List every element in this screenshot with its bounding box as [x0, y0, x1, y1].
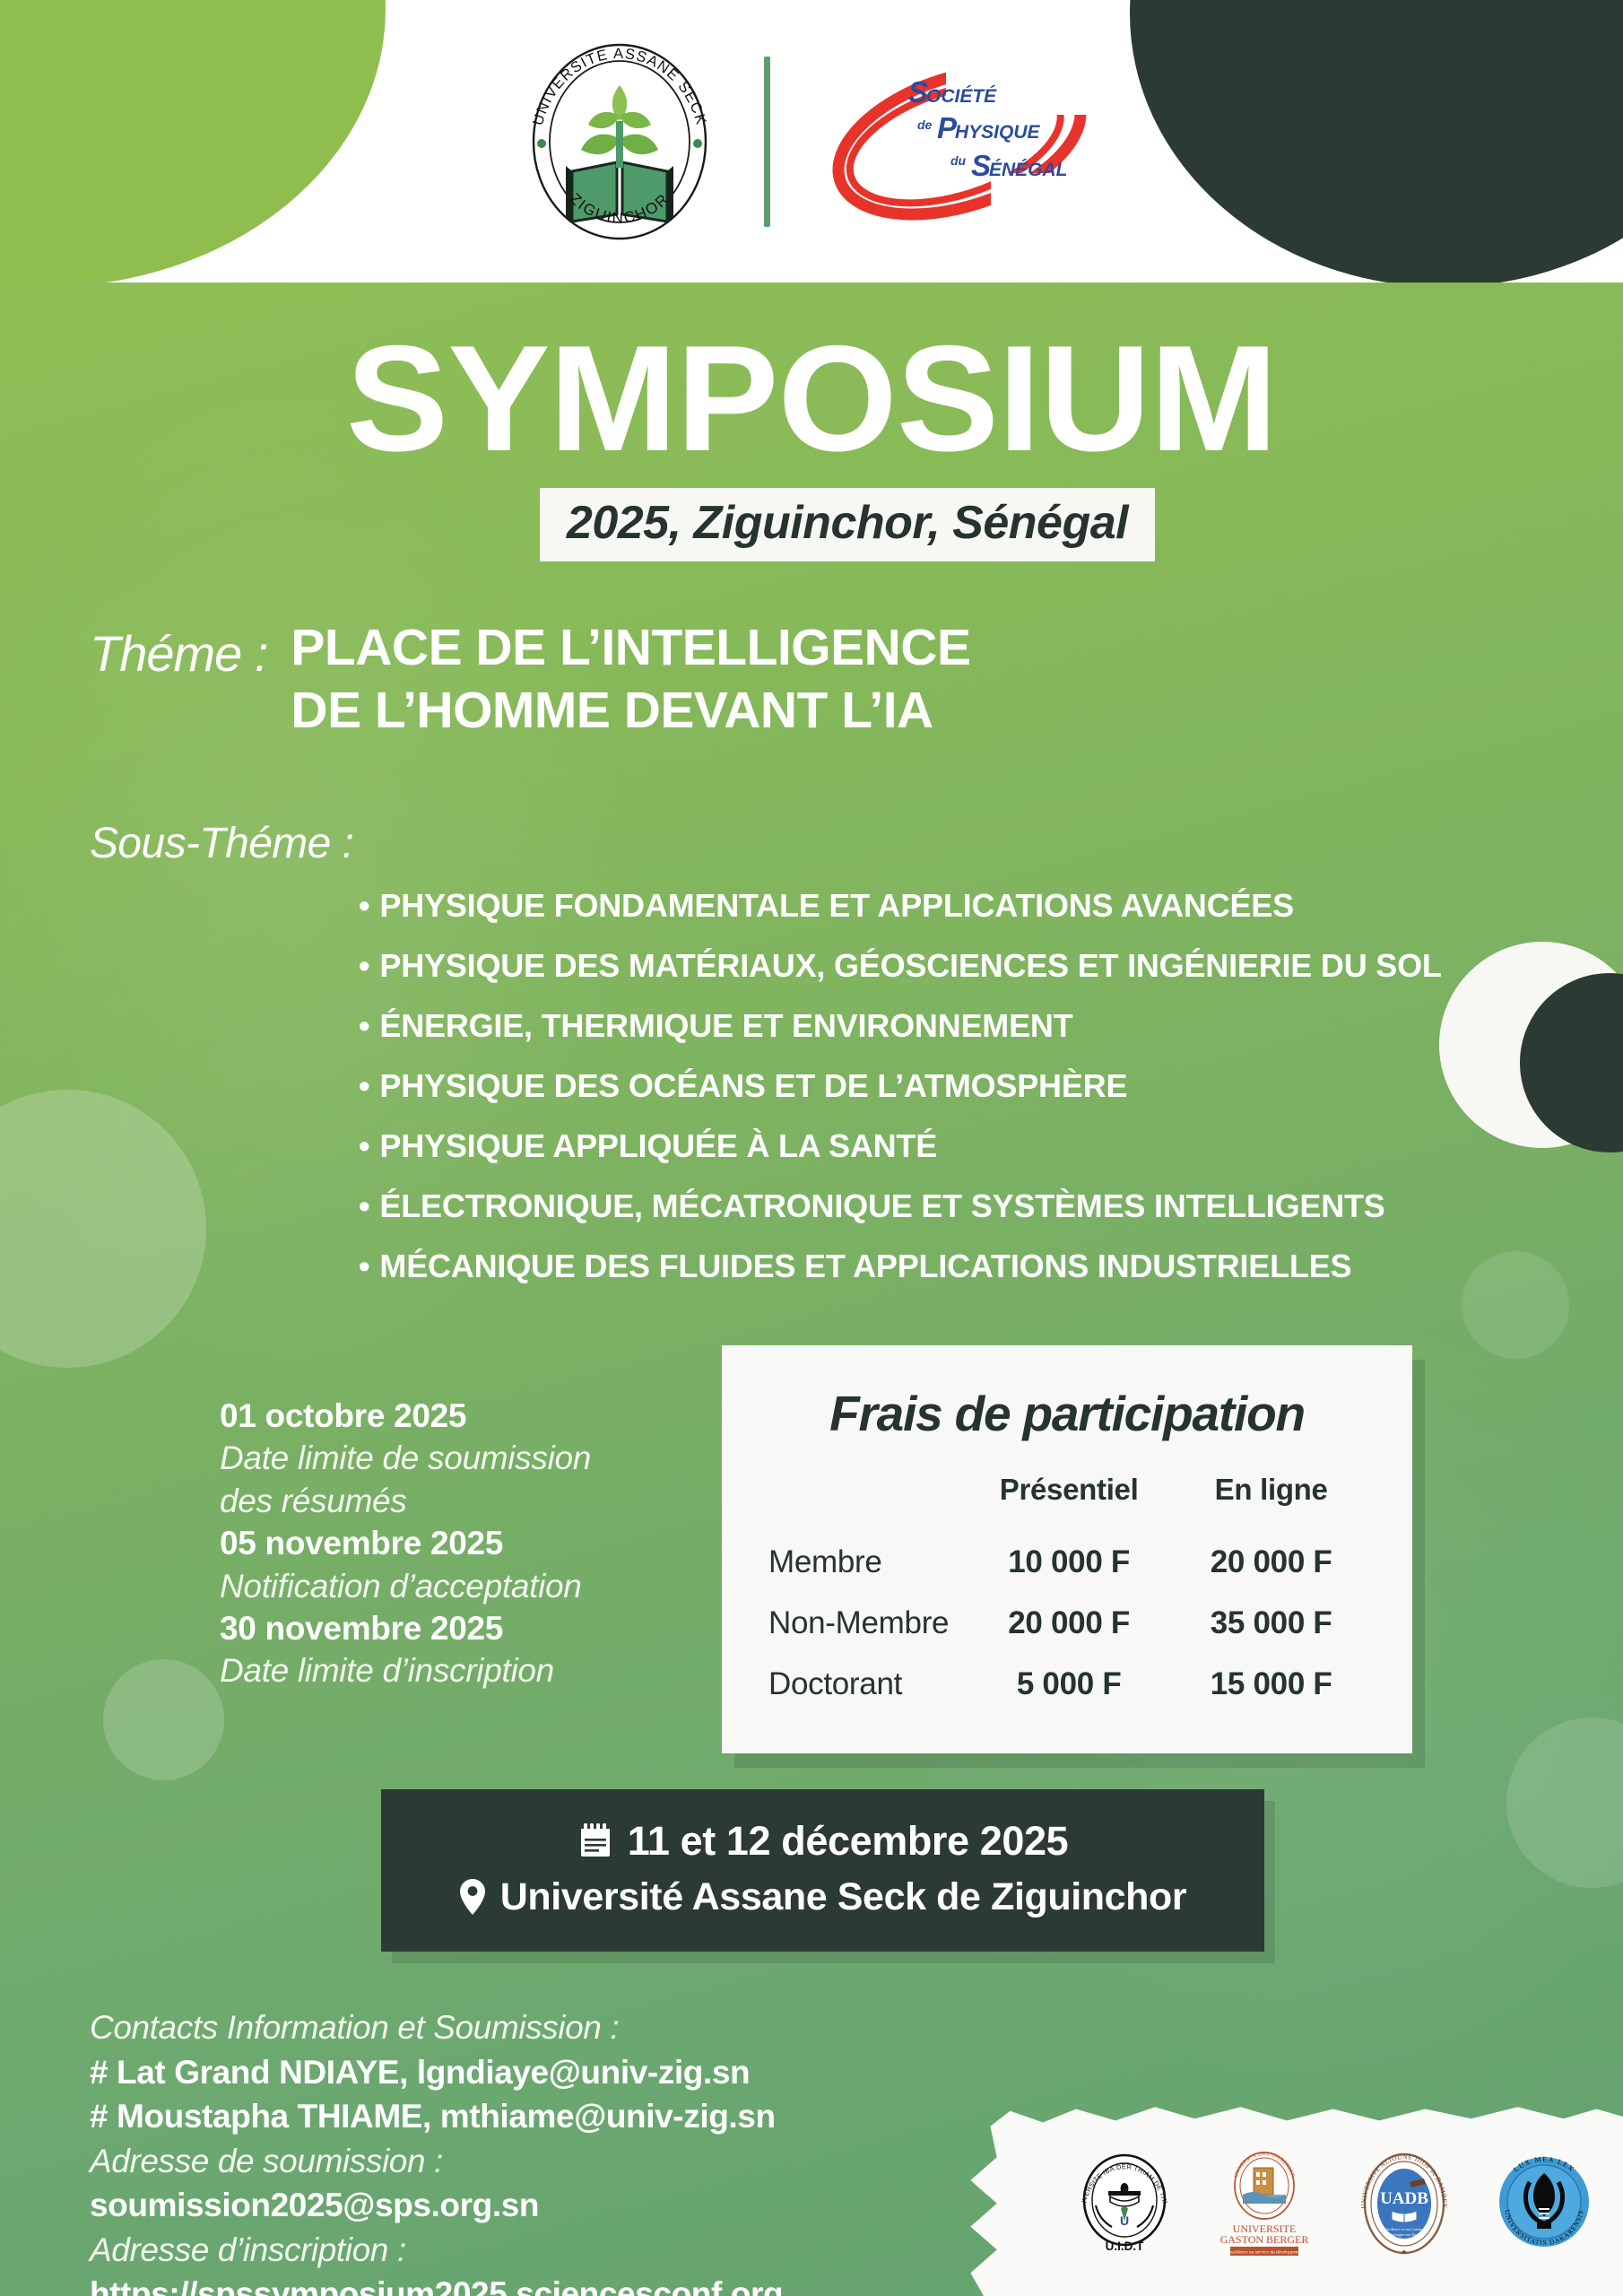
deadline-date: 30 novembre 2025 [220, 1607, 722, 1649]
deadline-date: 01 octobre 2025 [220, 1395, 722, 1437]
fees-cell-presentiel: 5 000 F [961, 1654, 1176, 1715]
banner-date-row: 11 et 12 décembre 2025 [381, 1813, 1264, 1870]
theme-line-1: PLACE DE L’INTELLIGENCE [291, 617, 970, 680]
subtheme-item-label: MÉCANIQUE DES FLUIDES ET APPLICATIONS IN… [379, 1248, 1351, 1284]
partner-logos: U UNIVERSITE IBA DER THIAM DE THIES U.I.… [964, 2103, 1623, 2296]
date-venue-banner: 11 et 12 décembre 2025 Université Assane… [381, 1789, 1264, 1952]
subtheme-item: •PHYSIQUE DES MATÉRIAUX, GÉOSCIENCES ET … [359, 950, 1623, 982]
deadline-desc-2: des résumés [220, 1480, 722, 1522]
bullet-icon: • [359, 947, 369, 984]
deadline-item: 30 novembre 2025 Date limite d’inscripti… [220, 1607, 722, 1692]
subtheme-item-label: ÉLECTRONIQUE, MÉCATRONIQUE ET SYSTÈMES I… [379, 1187, 1384, 1224]
partner-logo-ucad: LUX MEA LEX UNIVERSITATIS DAKARENSIS [1496, 2150, 1593, 2257]
page-title: SYMPOSIUM [0, 323, 1623, 474]
sps-logo: S OCIÉTÉ de P HYSIQUE du S ÉNÉGAL [811, 52, 1107, 231]
deadline-item: 01 octobre 2025 Date limite de soumissio… [220, 1395, 722, 1522]
contacts-heading: Contacts Information et Soumission : [90, 2005, 1623, 2050]
subtheme-item: •PHYSIQUE APPLIQUÉE À LA SANTÉ [359, 1130, 1623, 1162]
svg-text:S: S [908, 75, 928, 109]
deadline-date: 05 novembre 2025 [220, 1522, 722, 1564]
subtheme-item-label: PHYSIQUE DES OCÉANS ET DE L’ATMOSPHÈRE [379, 1067, 1127, 1104]
table-row: Non-Membre 20 000 F 35 000 F [768, 1593, 1366, 1654]
subtheme-item-label: PHYSIQUE APPLIQUÉE À LA SANTÉ [379, 1127, 937, 1164]
partner-logo-uidt: U UNIVERSITE IBA DER THIAM DE THIES U.I.… [1076, 2150, 1173, 2257]
poster-body: SYMPOSIUM 2025, Ziguinchor, Sénégal Thém… [0, 283, 1623, 2296]
fees-header-row: Présentiel En ligne [768, 1473, 1366, 1532]
fees-row-label: Membre [768, 1532, 961, 1593]
subtheme-item: •PHYSIQUE FONDAMENTALE ET APPLICATIONS A… [359, 890, 1623, 922]
fees-cell-enligne: 15 000 F [1176, 1654, 1366, 1715]
poster-header: UNIVERSITE ASSANE SECK ZIGUINCHOR S OCIÉ… [0, 0, 1623, 283]
banner-date-text: 11 et 12 décembre 2025 [628, 1813, 1069, 1870]
svg-text:U.I.D.T: U.I.D.T [1105, 2239, 1144, 2253]
bullet-icon: • [359, 1127, 369, 1164]
contact-person-1[interactable]: # Lat Grand NDIAYE, lgndiaye@univ-zig.sn [90, 2050, 1623, 2095]
svg-text:du: du [950, 153, 967, 168]
table-row: Doctorant 5 000 F 15 000 F [768, 1654, 1366, 1715]
svg-text:OCIÉTÉ: OCIÉTÉ [926, 86, 997, 107]
svg-text:UADB: UADB [1380, 2189, 1428, 2208]
location-pin-icon [459, 1878, 486, 1916]
subtheme-list: •PHYSIQUE FONDAMENTALE ET APPLICATIONS A… [359, 890, 1623, 1283]
fees-row-label: Doctorant [768, 1654, 961, 1715]
uasz-logo: UNIVERSITE ASSANE SECK ZIGUINCHOR [516, 39, 723, 245]
fees-cell-presentiel: 10 000 F [961, 1532, 1176, 1593]
svg-text:GASTON BERGER: GASTON BERGER [1219, 2233, 1308, 2246]
svg-text:HYSIQUE: HYSIQUE [955, 122, 1041, 143]
bullet-icon: • [359, 1248, 369, 1284]
theme-line-2: DE L’HOMME DEVANT L’IA [291, 680, 970, 743]
subtheme-item: •ÉLECTRONIQUE, MÉCATRONIQUE ET SYSTÈMES … [359, 1190, 1623, 1222]
subtheme-item-label: PHYSIQUE DES MATÉRIAUX, GÉOSCIENCES ET I… [379, 947, 1441, 984]
fees-title: Frais de participation [768, 1385, 1366, 1442]
theme-label: Théme : [90, 617, 267, 683]
svg-text:j’échappe ma Terre: j’échappe ma Terre [1387, 2232, 1419, 2237]
title-block: SYMPOSIUM 2025, Ziguinchor, Sénégal [0, 283, 1623, 561]
svg-text:S: S [971, 149, 991, 182]
fees-cell-presentiel: 20 000 F [961, 1593, 1176, 1654]
bullet-icon: • [359, 887, 369, 924]
partner-logo-uadb: UADB L’Excellence et ma Constance j’écha… [1356, 2150, 1453, 2257]
calendar-icon [577, 1822, 613, 1860]
deadline-desc: Notification d’acceptation [220, 1565, 722, 1607]
fees-col-presentiel: Présentiel [961, 1473, 1176, 1532]
deadline-desc: Date limite d’inscription [220, 1649, 722, 1692]
fees-cell-enligne: 35 000 F [1176, 1593, 1366, 1654]
banner-venue-row: Université Assane Seck de Ziguinchor [381, 1870, 1264, 1925]
bullet-icon: • [359, 1187, 369, 1224]
subtheme-label: Sous-Théme : [90, 819, 1623, 868]
fees-col-enligne: En ligne [1176, 1473, 1366, 1532]
subtheme-item: •ÉNERGIE, THERMIQUE ET ENVIRONNEMENT [359, 1010, 1623, 1042]
header-divider [764, 57, 770, 227]
svg-text:ÉNÉGAL: ÉNÉGAL [989, 160, 1068, 180]
theme-section: Théme : PLACE DE L’INTELLIGENCE DE L’HOM… [90, 617, 1623, 742]
subtheme-item-label: PHYSIQUE FONDAMENTALE ET APPLICATIONS AV… [379, 887, 1294, 924]
partner-logo-ugb: UNIVERSITE GASTON BERGER UNIVERSITE GAST… [1216, 2150, 1313, 2257]
bullet-icon: • [359, 1007, 369, 1044]
fees-cell-enligne: 20 000 F [1176, 1532, 1366, 1593]
svg-text:L’excellence au service du dév: L’excellence au service du développement [1222, 2249, 1305, 2255]
banner-venue-text: Université Assane Seck de Ziguinchor [500, 1870, 1186, 1925]
deadline-item: 05 novembre 2025 Notification d’acceptat… [220, 1522, 722, 1607]
symposium-poster: UNIVERSITE ASSANE SECK ZIGUINCHOR S OCIÉ… [0, 0, 1623, 2296]
svg-text:L’Excellence et ma Constance: L’Excellence et ma Constance [1379, 2227, 1428, 2231]
fees-col-blank [768, 1473, 961, 1532]
svg-text:★: ★ [1401, 2248, 1407, 2256]
subtheme-item-label: ÉNERGIE, THERMIQUE ET ENVIRONNEMENT [379, 1007, 1072, 1044]
theme-text: PLACE DE L’INTELLIGENCE DE L’HOMME DEVAN… [291, 617, 970, 742]
svg-text:de: de [917, 117, 933, 132]
fees-row-label: Non-Membre [768, 1593, 961, 1654]
deadlines-list: 01 octobre 2025 Date limite de soumissio… [220, 1345, 722, 1753]
subtheme-item: •MÉCANIQUE DES FLUIDES ET APPLICATIONS I… [359, 1250, 1623, 1283]
svg-text:U: U [1119, 2213, 1128, 2228]
fees-card: Frais de participation Présentiel En lig… [722, 1345, 1412, 1753]
fees-table: Présentiel En ligne Membre 10 000 F 20 0… [768, 1473, 1366, 1715]
bullet-icon: • [359, 1067, 369, 1104]
deadline-desc: Date limite de soumission [220, 1437, 722, 1479]
title-badge: 2025, Ziguinchor, Sénégal [540, 488, 1155, 561]
deadlines-fees-row: 01 octobre 2025 Date limite de soumissio… [0, 1345, 1623, 1753]
subtheme-item: •PHYSIQUE DES OCÉANS ET DE L’ATMOSPHÈRE [359, 1070, 1623, 1102]
table-row: Membre 10 000 F 20 000 F [768, 1532, 1366, 1593]
